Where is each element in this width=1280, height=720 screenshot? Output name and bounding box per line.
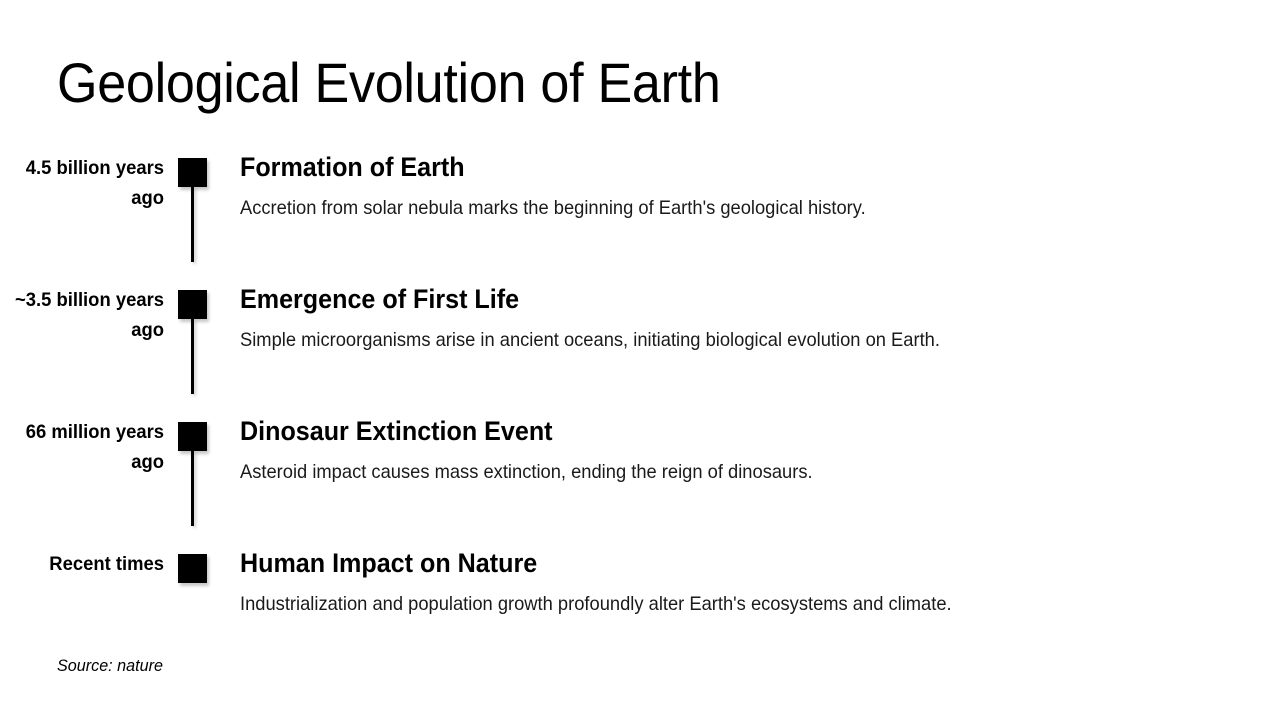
- timeline-entry-heading: Human Impact on Nature: [240, 548, 1179, 580]
- timeline-connector-line: [191, 187, 194, 262]
- timeline-entry-description: Simple microorganisms arise in ancient o…: [240, 316, 1189, 352]
- timeline-square-marker-icon: [178, 158, 207, 187]
- timeline-entry-body: Human Impact on Nature Industrialization…: [240, 548, 1250, 616]
- timeline-square-marker-icon: [178, 422, 207, 451]
- timeline-entry-heading: Dinosaur Extinction Event: [240, 416, 1179, 448]
- timeline-marker-column: [178, 548, 208, 680]
- timeline-entry-heading: Formation of Earth: [240, 152, 1179, 184]
- timeline-slide: Geological Evolution of Earth 4.5 billio…: [0, 0, 1280, 720]
- timeline-connector-line: [191, 451, 194, 526]
- timeline-marker-column: [178, 284, 208, 416]
- timeline-entry: ~3.5 billion years ago Emergence of Firs…: [0, 284, 1280, 416]
- timeline-entry-body: Dinosaur Extinction Event Asteroid impac…: [240, 416, 1250, 484]
- timeline-entry: Recent times Human Impact on Nature Indu…: [0, 548, 1280, 680]
- timeline-entry-heading: Emergence of First Life: [240, 284, 1179, 316]
- timeline-entry-date: 66 million years ago: [5, 418, 164, 477]
- timeline-marker-column: [178, 416, 208, 548]
- timeline-square-marker-icon: [178, 554, 207, 583]
- timeline-marker-column: [178, 152, 208, 284]
- timeline-entry-description: Industrialization and population growth …: [240, 580, 1189, 616]
- source-attribution: Source: nature: [57, 656, 163, 676]
- page-title: Geological Evolution of Earth: [57, 52, 721, 115]
- timeline-entry-date: 4.5 billion years ago: [5, 154, 164, 213]
- timeline-entry-body: Emergence of First Life Simple microorga…: [240, 284, 1250, 352]
- timeline-connector-line: [191, 319, 194, 394]
- timeline-entry-description: Asteroid impact causes mass extinction, …: [240, 448, 1189, 484]
- timeline-entry-date: Recent times: [5, 550, 164, 580]
- timeline-entry: 4.5 billion years ago Formation of Earth…: [0, 152, 1280, 284]
- timeline-entry-body: Formation of Earth Accretion from solar …: [240, 152, 1250, 220]
- timeline-entry-description: Accretion from solar nebula marks the be…: [240, 184, 1189, 220]
- timeline-entry: 66 million years ago Dinosaur Extinction…: [0, 416, 1280, 548]
- timeline-list: 4.5 billion years ago Formation of Earth…: [0, 152, 1280, 680]
- timeline-square-marker-icon: [178, 290, 207, 319]
- timeline-entry-date: ~3.5 billion years ago: [5, 286, 164, 345]
